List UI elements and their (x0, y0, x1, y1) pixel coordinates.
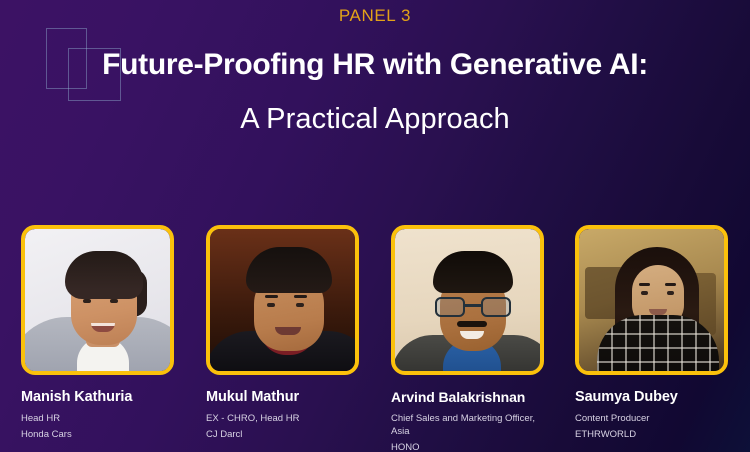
panel-number-label: PANEL 3 (0, 6, 750, 26)
speaker-name: Saumya Dubey (575, 389, 732, 405)
panel-title-line-2: A Practical Approach (0, 103, 750, 136)
speaker-photo-frame (391, 225, 544, 375)
speaker-role: Chief Sales and Marketing Officer, Asia (391, 412, 547, 438)
speaker-photo (395, 229, 540, 371)
speaker-photo-frame (575, 225, 728, 375)
speaker-card: Saumya Dubey Content Producer ETHRWORLD (575, 225, 732, 452)
speaker-organization: ETHRWORLD (575, 428, 732, 441)
speaker-photo-frame (21, 225, 174, 375)
panel-slide: PANEL 3 Future-Proofing HR with Generati… (0, 0, 750, 452)
speaker-card: Mukul Mathur EX - CHRO, Head HR CJ Darcl (206, 225, 363, 452)
speaker-name: Mukul Mathur (206, 389, 363, 405)
speaker-organization: Honda Cars (21, 428, 178, 441)
speaker-role: EX - CHRO, Head HR (206, 412, 362, 425)
speaker-organization: CJ Darcl (206, 428, 363, 441)
speaker-organization: HONO (391, 441, 548, 452)
speaker-photo (25, 229, 170, 371)
speaker-role: Content Producer (575, 412, 731, 425)
speaker-card: Manish Kathuria Head HR Honda Cars (21, 225, 178, 452)
speaker-photo (210, 229, 355, 371)
panel-title-line-1: Future-Proofing HR with Generative AI: (0, 48, 750, 82)
speaker-photo (579, 229, 724, 371)
speaker-card: Arvind Balakrishnan Chief Sales and Mark… (391, 225, 548, 452)
speaker-role: Head HR (21, 412, 177, 425)
speaker-name: Arvind Balakrishnan (391, 389, 548, 405)
speaker-name: Manish Kathuria (21, 389, 178, 405)
speaker-photo-frame (206, 225, 359, 375)
speaker-list: Manish Kathuria Head HR Honda Cars (0, 225, 750, 452)
